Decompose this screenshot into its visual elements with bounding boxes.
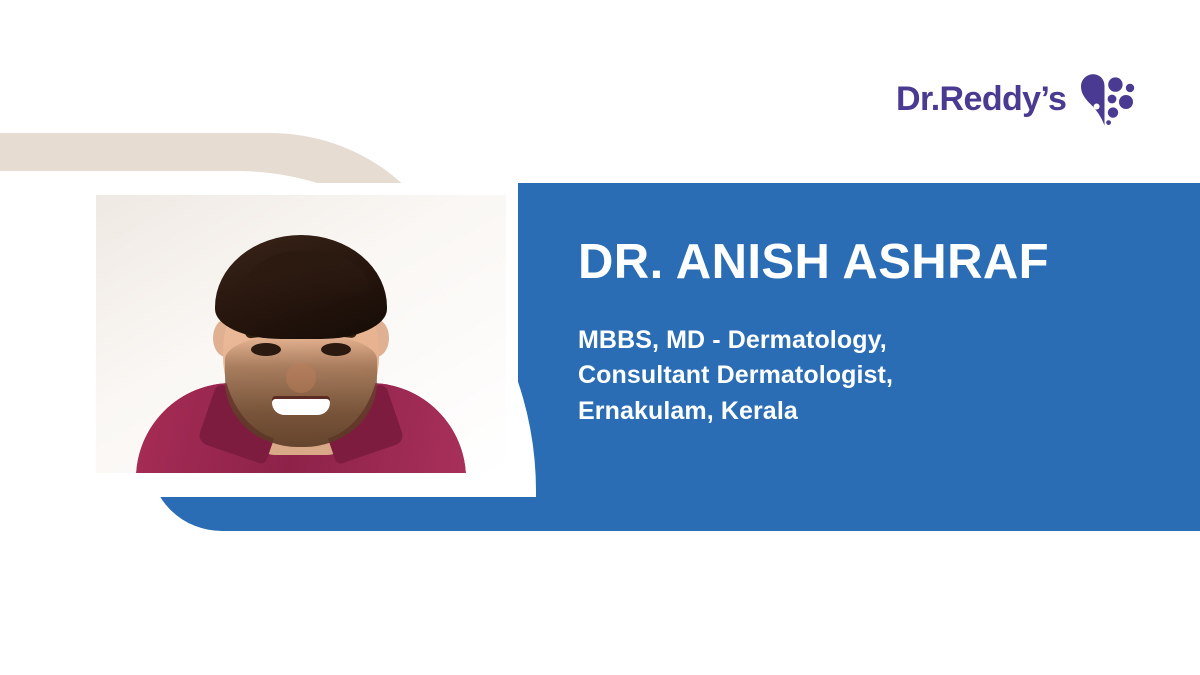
brand-wordmark: Dr.Reddy’s [896, 82, 1066, 116]
doctor-details: DR. ANISH ASHRAF MBBS, MD - Dermatology,… [578, 236, 1138, 429]
doctor-photo-frame [84, 183, 518, 485]
portrait-eye-left [251, 343, 281, 356]
credential-line: Consultant Dermatologist, [578, 358, 1138, 394]
dr-reddys-heart-mark-icon [1076, 68, 1138, 130]
portrait-eye-right [321, 343, 351, 356]
portrait-nose [286, 363, 316, 393]
doctor-credentials-list: MBBS, MD - Dermatology, Consultant Derma… [578, 323, 1138, 430]
portrait-illustration [96, 195, 506, 473]
credential-line: MBBS, MD - Dermatology, [578, 323, 1138, 359]
doctor-name: DR. ANISH ASHRAF [578, 236, 1138, 289]
profile-card-canvas: DR. ANISH ASHRAF MBBS, MD - Dermatology,… [0, 0, 1200, 675]
portrait-mouth [272, 399, 330, 415]
brand-logo: Dr.Reddy’s [896, 64, 1128, 134]
credential-line: Ernakulam, Kerala [578, 394, 1138, 430]
doctor-photo [96, 195, 506, 473]
